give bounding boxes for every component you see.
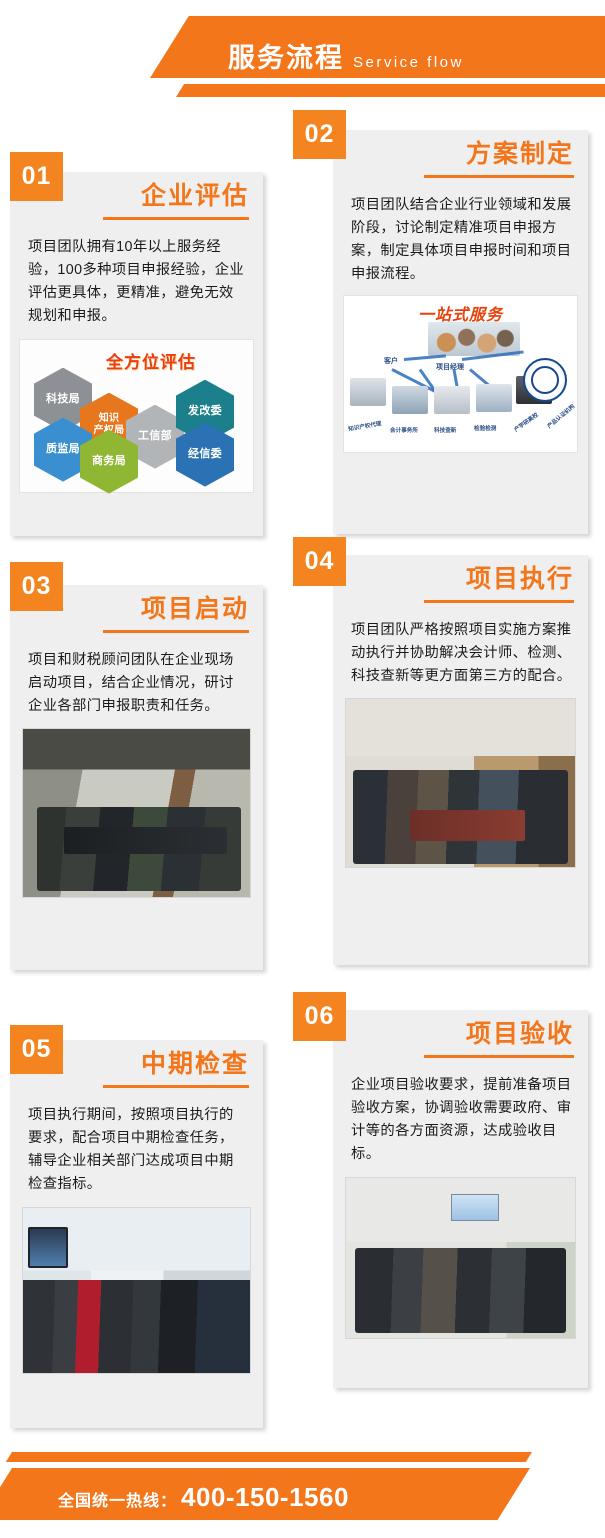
- step-card-06: 项目验收 企业项目验收要求，提前准备项目验收方案，协调验收需要政府、审计等的各方…: [333, 1010, 588, 1388]
- step-body-03: 项目和财税顾问团队在企业现场启动项目，结合企业情况，研讨企业各部门申报职责和任务…: [10, 633, 263, 722]
- one-stop-node-label: 会计事务所: [390, 426, 418, 434]
- step-card-05: 中期检查 项目执行期间，按照项目执行的要求，配合项目中期检查任务，辅导企业相关部…: [10, 1040, 263, 1428]
- one-stop-node-label: 科技查新: [434, 426, 456, 434]
- photo-conference-room-kickoff: [22, 728, 251, 898]
- step-body-05: 项目执行期间，按照项目执行的要求，配合项目中期检查任务，辅导企业相关部门达成项目…: [10, 1088, 263, 1201]
- photo-scene: [23, 729, 250, 897]
- photo-scene: [346, 1178, 575, 1338]
- step-title-06: 项目验收: [333, 1010, 588, 1050]
- step-badge-02: 02: [293, 110, 346, 159]
- step-card-02: 方案制定 项目团队结合企业行业领域和发展阶段，讨论制定精准项目申报方案，制定具体…: [333, 130, 588, 534]
- photo-scene: [346, 699, 575, 867]
- step-badge-05: 05: [10, 1025, 63, 1074]
- hexagon-assessment-chart: 全方位评估 科技局 知识产权局 质监局 工信部 发改委 商务局 经信委: [19, 339, 254, 493]
- one-stop-node-label: 产学研高校: [512, 410, 539, 433]
- step-badge-04: 04: [293, 537, 346, 586]
- page-header: 服务流程Service flow: [0, 0, 605, 120]
- one-stop-arrow: [404, 354, 446, 361]
- hotline-group: 全国统一热线： 400-150-1560: [58, 1482, 349, 1513]
- hotline-number[interactable]: 400-150-1560: [181, 1482, 349, 1513]
- step-title-04: 项目执行: [333, 555, 588, 595]
- one-stop-center-label: 项目经理: [436, 362, 464, 372]
- one-stop-node-research: [434, 386, 470, 414]
- step-card-01: 企业评估 项目团队拥有10年以上服务经验，100多种项目申报经验，企业评估更具体…: [10, 172, 263, 536]
- header-title-group: 服务流程Service flow: [228, 36, 464, 75]
- step-card-03: 项目启动 项目和财税顾问团队在企业现场启动项目，结合企业情况，研讨企业各部门申报…: [10, 585, 263, 970]
- one-stop-team-photo: [428, 322, 520, 356]
- footer-orange-stripe: [6, 1452, 532, 1462]
- one-stop-node-label: 产品认证机构: [545, 402, 576, 430]
- photo-boardroom-review: [345, 1177, 576, 1339]
- page-title: 服务流程: [228, 43, 344, 73]
- page-footer: 全国统一热线： 400-150-1560: [0, 1410, 605, 1538]
- step-badge-06: 06: [293, 992, 346, 1041]
- hex-chart-title: 全方位评估: [106, 348, 196, 373]
- step-badge-03: 03: [10, 562, 63, 611]
- one-stop-node-accounting: [392, 386, 428, 414]
- step-body-01: 项目团队拥有10年以上服务经验，100多种项目申报经验，企业评估更具体，更精准，…: [10, 220, 263, 333]
- one-stop-node-label: 知识产权代理: [348, 419, 382, 433]
- one-stop-client-label: 客户: [384, 356, 398, 366]
- one-stop-certification-seal: [523, 358, 567, 402]
- hotline-label: 全国统一热线：: [58, 1487, 177, 1511]
- step-title-02: 方案制定: [333, 130, 588, 170]
- one-stop-service-diagram: 一站式服务 客户 项目经理 知识产权代理 会计事务所 科技查新 检验检测 产学研…: [343, 295, 578, 453]
- step-body-06: 企业项目验收要求，提前准备项目验收方案，协调验收需要政府、审计等的各方面资源，达…: [333, 1058, 588, 1171]
- step-body-04: 项目团队严格按照项目实施方案推动执行并协助解决会计师、检测、科技查新等更方面第三…: [333, 603, 588, 692]
- photo-meeting-laptops: [345, 698, 576, 868]
- page-subtitle: Service flow: [353, 54, 464, 71]
- one-stop-node-ip: [350, 378, 386, 406]
- step-body-02: 项目团队结合企业行业领域和发展阶段，讨论制定精准项目申报方案，制定具体项目申报时…: [333, 178, 588, 291]
- header-orange-stripe: [176, 84, 605, 97]
- step-badge-01: 01: [10, 152, 63, 201]
- photo-scene: [23, 1208, 250, 1373]
- one-stop-node-testing: [476, 384, 512, 412]
- photo-site-visit-lobby: [22, 1207, 251, 1374]
- one-stop-node-label: 检验检测: [474, 424, 496, 432]
- step-card-04: 项目执行 项目团队严格按照项目实施方案推动执行并协助解决会计师、检测、科技查新等…: [333, 555, 588, 965]
